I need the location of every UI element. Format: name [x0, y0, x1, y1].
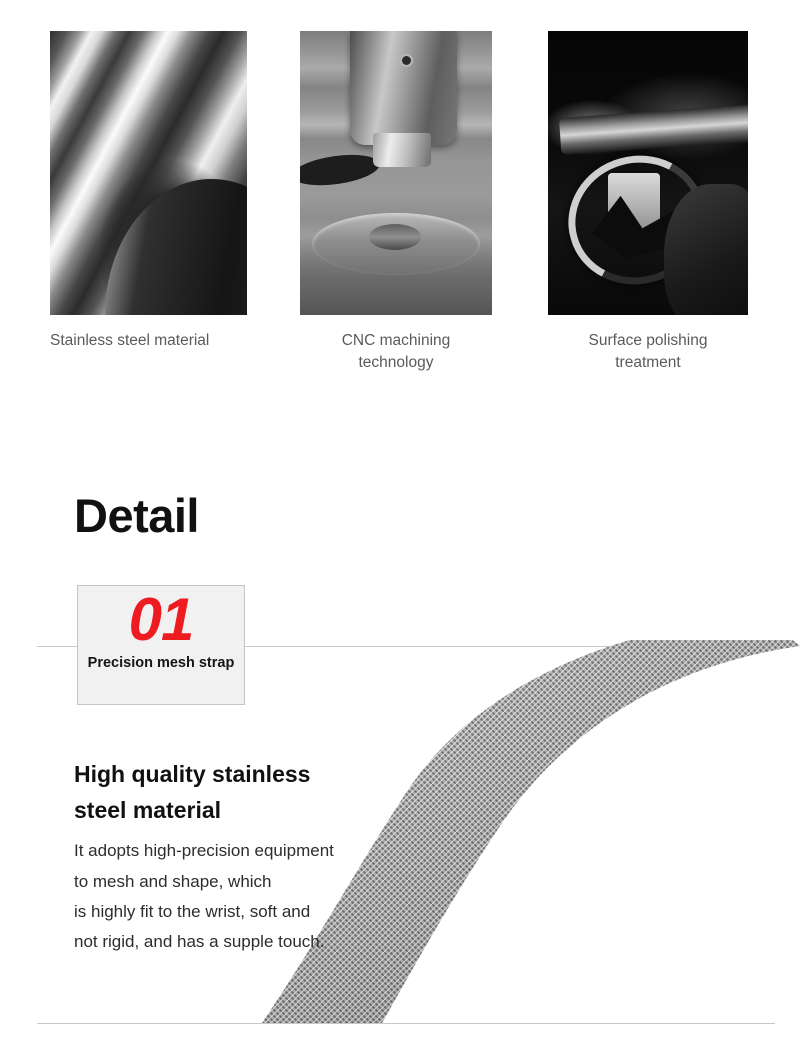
cutting-tool-shape: [373, 133, 431, 167]
feature-caption-polishing-line2: treatment: [548, 352, 748, 374]
machine-base-shape: [300, 281, 492, 315]
polishing-workshop-photo: [548, 31, 748, 315]
feature-card-stainless-steel: Stainless steel material: [50, 31, 247, 352]
detail-copy-heading-line1: High quality stainless: [74, 757, 404, 793]
feature-card-surface-polishing: Surface polishing treatment: [548, 31, 748, 375]
feature-card-cnc-machining: CNC machining technology: [300, 31, 492, 375]
detail-copy-body-line3: is highly fit to the wrist, soft and: [74, 897, 404, 927]
detail-copy-block: High quality stainless steel material It…: [74, 757, 404, 957]
divider-rule-bottom: [37, 1023, 775, 1024]
detail-copy-body: It adopts high-precision equipment to me…: [74, 836, 404, 957]
detail-copy-body-line2: to mesh and shape, which: [74, 867, 404, 897]
detail-copy-body-line4: not rigid, and has a supple touch.: [74, 927, 404, 957]
feature-caption-cnc-machining: CNC machining technology: [300, 330, 492, 375]
detail-section-title: Detail: [74, 492, 199, 539]
coolant-hose-shape: [300, 150, 382, 190]
badge-label: Precision mesh strap: [88, 655, 235, 671]
feature-caption-cnc-line1: CNC machining: [300, 330, 492, 352]
polished-steel-tubes-photo: [50, 31, 247, 315]
workpiece-shape: [369, 224, 421, 250]
feature-caption-cnc-line2: technology: [300, 352, 492, 374]
badge-number: 01: [129, 588, 194, 651]
operator-hand-shape: [664, 184, 748, 315]
detail-copy-body-line1: It adopts high-precision equipment: [74, 836, 404, 866]
feature-caption-surface-polishing: Surface polishing treatment: [548, 330, 748, 375]
spindle-head-shape: [350, 31, 458, 145]
detail-number-badge: 01 Precision mesh strap: [77, 585, 245, 705]
polishing-spindle-bar-shape: [559, 104, 748, 155]
detail-copy-heading: High quality stainless steel material: [74, 757, 404, 828]
detail-copy-heading-line2: steel material: [74, 793, 404, 829]
feature-caption-stainless-steel: Stainless steel material: [50, 330, 247, 352]
feature-caption-polishing-line1: Surface polishing: [548, 330, 748, 352]
cnc-milling-machine-photo: [300, 31, 492, 315]
